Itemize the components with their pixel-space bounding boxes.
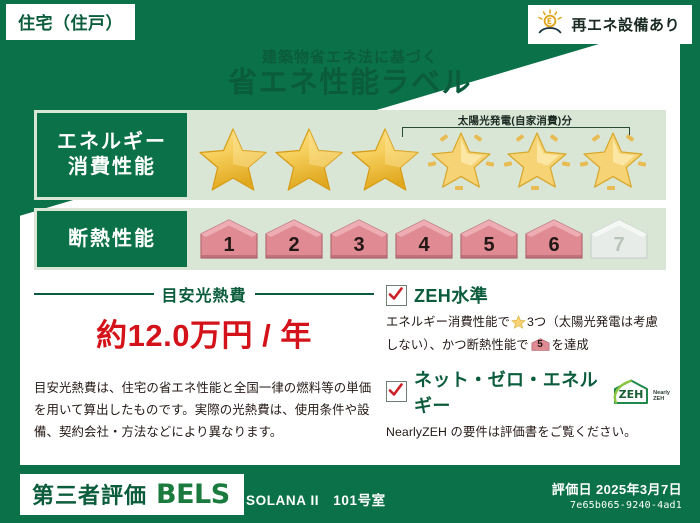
energy-rating-body: 太陽光発電(自家消費)分	[190, 110, 666, 200]
zeh-nearly-sublabel: Nearly ZEH	[653, 391, 670, 403]
claim-net-zero-title: ネット・ゼロ・エネルギー	[414, 366, 600, 418]
star-icon-2	[272, 124, 346, 194]
evaluation-meta: 評価日 2025年3月7日 7e65b065-9240-4ad1	[552, 479, 682, 511]
details-section: 目安光熱費 約12.0万円 / 年 目安光熱費は、住宅の省エネ性能と全国一律の燃…	[34, 282, 670, 452]
insulation-level-4-number: 4	[393, 234, 455, 257]
insulation-level-5: 5	[458, 217, 520, 261]
category-tag: 住宅（住戸）	[6, 4, 135, 40]
insulation-level-6-number: 6	[523, 234, 585, 257]
evaluation-date: 評価日 2025年3月7日	[552, 479, 682, 498]
insulation-level-1-number: 1	[198, 234, 260, 257]
claim-zeh-standard: ZEH水準 エネルギー消費性能で3つ（太陽光発電は考慮しない）、かつ断熱性能で5…	[386, 282, 670, 356]
bels-logo: BELS	[156, 479, 230, 510]
claim-zeh-standard-header: ZEH水準	[386, 282, 670, 308]
insulation-level-7-number: 7	[588, 234, 650, 257]
page-main-title: 省エネ性能ラベル	[0, 68, 700, 100]
utility-cost-value: 約12.0万円 / 年	[34, 310, 374, 355]
star-icon-solar-4	[424, 124, 498, 194]
insulation-performance-label: 断熱性能	[37, 211, 187, 267]
insulation-level-scale: 1 2	[190, 217, 650, 261]
insulation-level-2-number: 2	[263, 234, 325, 257]
insulation-rating-body: 1 2	[190, 208, 666, 270]
energy-performance-row: エネルギー 消費性能 太陽光発電(自家消費)分	[34, 110, 666, 200]
insulation-level-3-number: 3	[328, 234, 390, 257]
performance-rows: エネルギー 消費性能 太陽光発電(自家消費)分	[34, 110, 666, 278]
zeh-nearly-line2: ZEH	[653, 396, 664, 402]
claim-zeh-text-part1: エネルギー消費性能で	[386, 315, 510, 329]
inline-star-icon	[511, 315, 526, 335]
star-icon-3	[348, 124, 422, 194]
utility-cost-heading: 目安光熱費	[34, 282, 374, 306]
page-title: 建築物省エネ法に基づく 省エネ性能ラベル	[0, 46, 700, 100]
insulation-performance-row: 断熱性能 1	[34, 208, 666, 270]
renewable-badge-label: 再エネ設備あり	[571, 14, 680, 35]
third-party-evaluation-badge: 第三者評価 BELS	[20, 474, 244, 515]
insulation-level-7: 7	[588, 217, 650, 261]
claim-zeh-standard-title: ZEH水準	[414, 282, 488, 308]
insulation-level-1: 1	[198, 217, 260, 261]
energy-performance-label: エネルギー 消費性能	[37, 113, 187, 197]
claim-zeh-text-part3: を達成	[552, 338, 589, 352]
energy-label-line2: 消費性能	[68, 155, 156, 180]
certification-claims-column: ZEH水準 エネルギー消費性能で3つ（太陽光発電は考慮しない）、かつ断熱性能で5…	[374, 282, 670, 452]
checkbox-checked-icon-2	[386, 381, 407, 402]
bels-energy-label: 住宅（住戸） 再エネ設備あり 建築物省エネ法に基づく 省エネ性能ラベル	[0, 0, 700, 523]
claim-net-zero-body: NearlyZEH の要件は評価書をご覧ください。	[386, 422, 670, 442]
third-party-evaluation-label: 第三者評価	[32, 478, 147, 510]
claim-net-zero-header: ネット・ゼロ・エネルギー ZEH Nearly ZEH	[386, 366, 670, 418]
zeh-house-icon: ZEH Nearly ZEH	[611, 378, 670, 406]
renewable-energy-badge: 再エネ設備あり	[528, 5, 692, 44]
property-unit-name: SOLANA II 101号室	[246, 489, 386, 509]
insulation-label-text: 断熱性能	[68, 227, 156, 252]
inline-insulation-level-number: 5	[531, 337, 550, 354]
insulation-level-4: 4	[393, 217, 455, 261]
insulation-level-6: 6	[523, 217, 585, 261]
star-icon-solar-6	[576, 124, 650, 194]
svg-text:ZEH: ZEH	[619, 388, 644, 401]
footer: 第三者評価 BELS SOLANA II 101号室 評価日 2025年3月7日…	[0, 465, 700, 523]
utility-cost-column: 目安光熱費 約12.0万円 / 年 目安光熱費は、住宅の省エネ性能と全国一律の燃…	[34, 282, 374, 452]
utility-cost-title: 目安光熱費	[162, 282, 247, 306]
star-icon-1	[196, 124, 270, 194]
utility-cost-description: 目安光熱費は、住宅の省エネ性能と全国一律の燃料等の単価を用いて算出したものです。…	[34, 377, 374, 443]
insulation-level-5-number: 5	[458, 234, 520, 257]
claim-zeh-standard-body: エネルギー消費性能で3つ（太陽光発電は考慮しない）、かつ断熱性能で5を達成	[386, 312, 670, 356]
energy-label-line1: エネルギー	[57, 130, 167, 155]
star-rating	[190, 124, 650, 194]
insulation-level-2: 2	[263, 217, 325, 261]
cost-rule-left	[34, 293, 154, 295]
inline-insulation-level-icon: 5	[531, 336, 550, 353]
claim-net-zero-energy: ネット・ゼロ・エネルギー ZEH Nearly ZEH NearlyZEH	[386, 366, 670, 442]
checkbox-checked-icon	[386, 285, 407, 306]
cost-rule-right	[255, 293, 375, 295]
insulation-level-3: 3	[328, 217, 390, 261]
page-subtitle: 建築物省エネ法に基づく	[0, 46, 700, 67]
star-icon-solar-5	[500, 124, 574, 194]
sun-icon	[536, 9, 564, 40]
evaluation-id: 7e65b065-9240-4ad1	[552, 500, 682, 511]
